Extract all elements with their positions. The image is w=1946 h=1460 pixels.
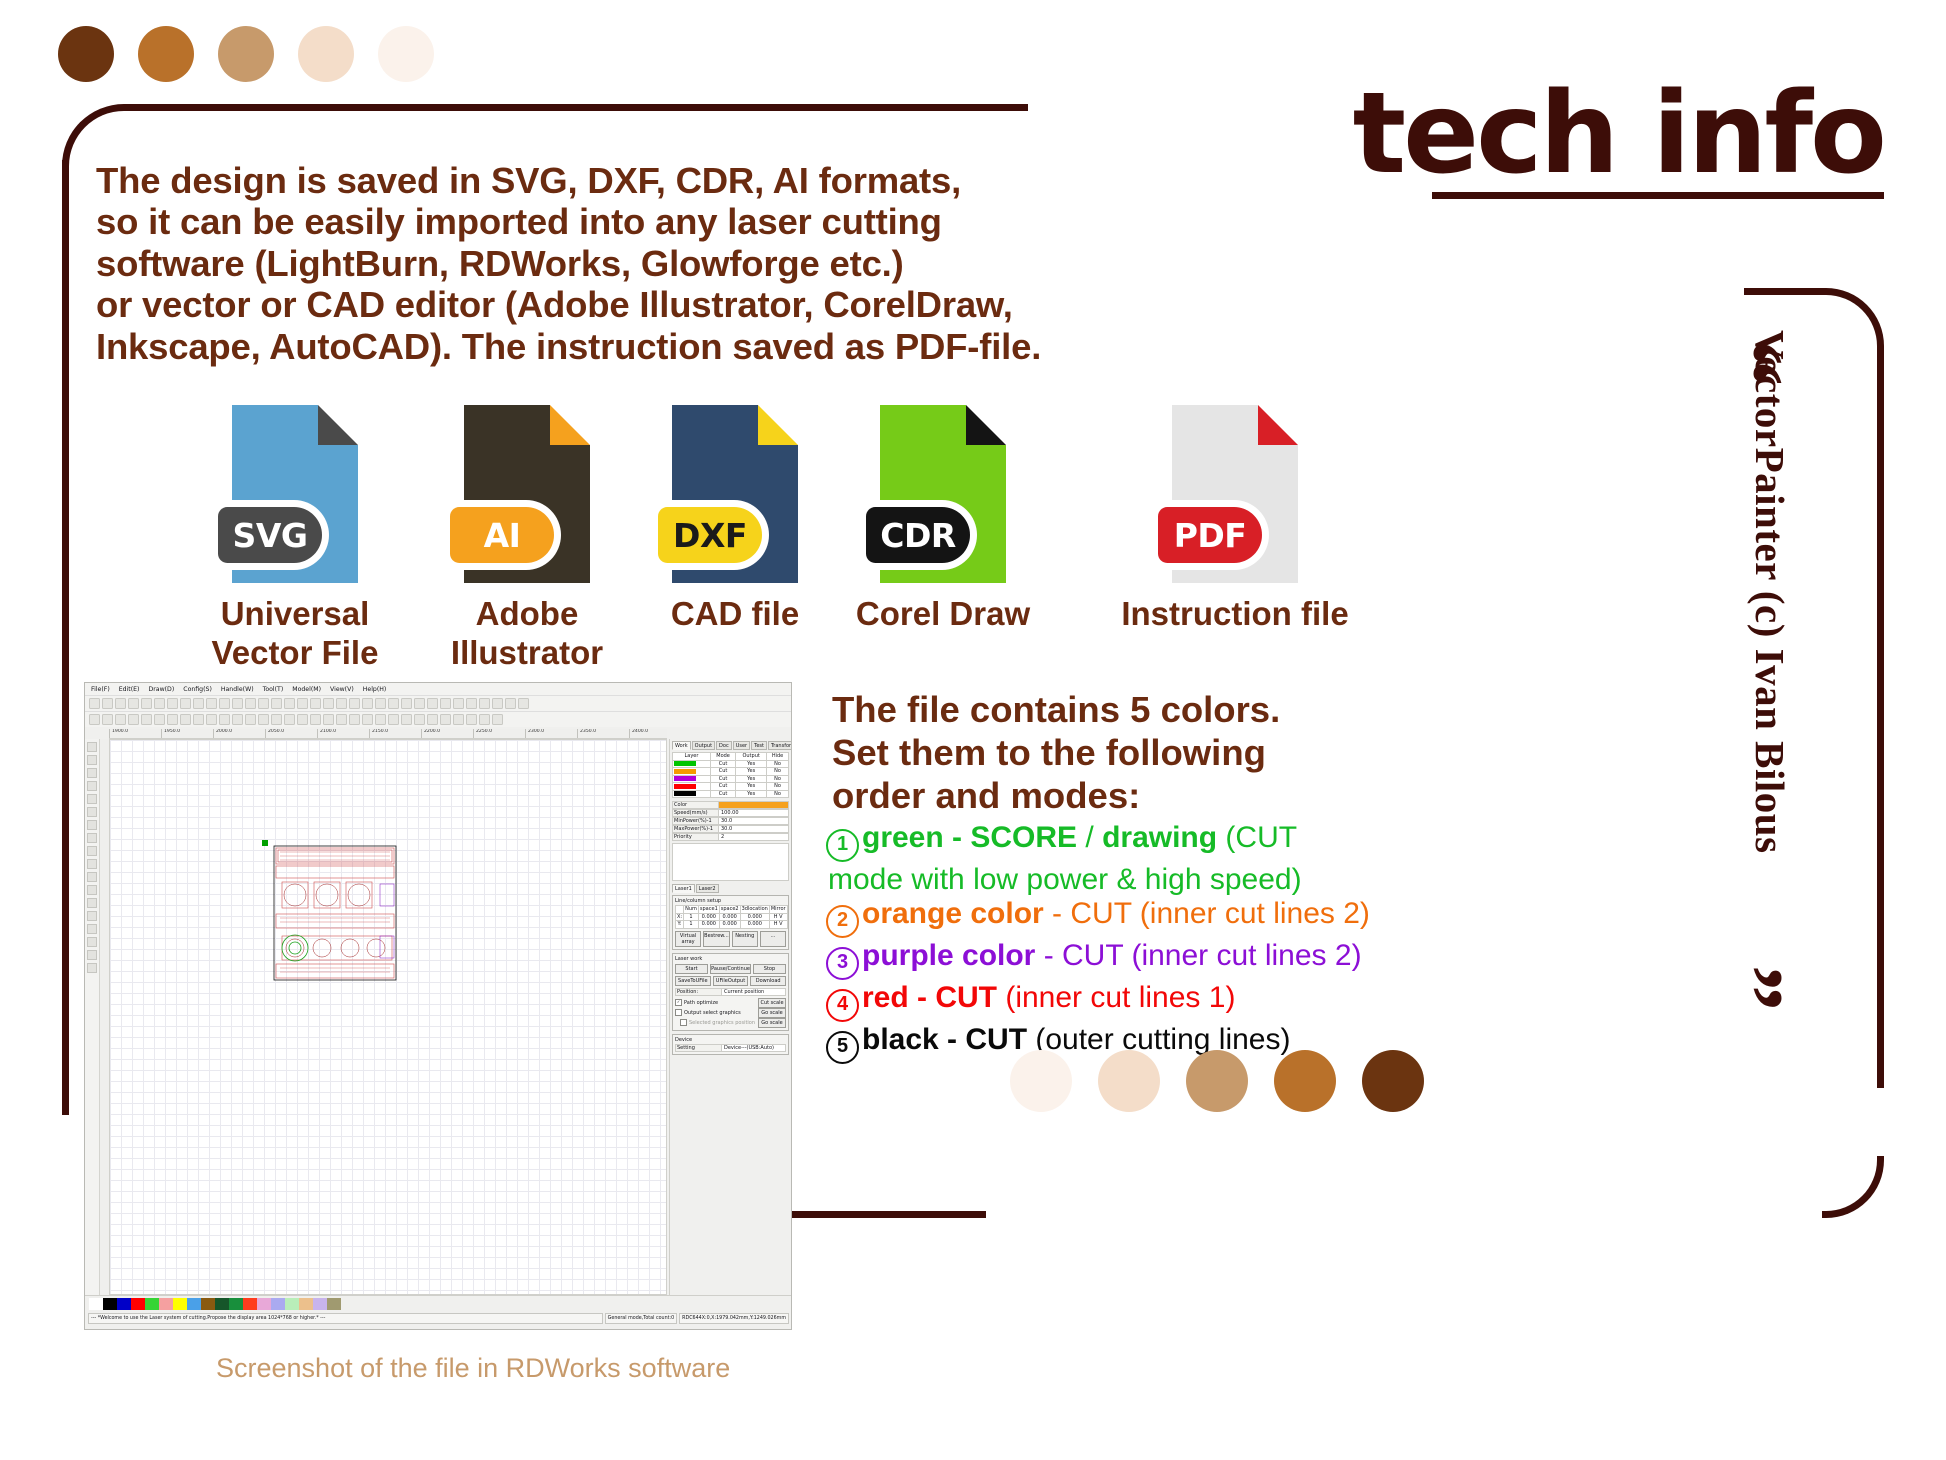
- file-icon-fold: [1258, 405, 1298, 445]
- laser-work-group-label: Laser work: [675, 956, 786, 962]
- intro-line-4: or vector or CAD editor (Adobe Illustrat…: [96, 284, 1096, 325]
- table-cell: No: [767, 768, 789, 776]
- toolbar-button-icon[interactable]: [219, 714, 230, 725]
- table-header: Mirror: [769, 906, 787, 914]
- rdworks-layer-table[interactable]: LayerModeOutputHideCutYesNoCutYesNoCutYe…: [672, 752, 789, 798]
- table-cell: No: [767, 760, 789, 768]
- tool-button-icon[interactable]: [87, 794, 97, 804]
- rdworks-right-panel[interactable]: WorkOutputDocUserTestTransform LayerMode…: [669, 739, 791, 1295]
- ruler-tick: 2350.0: [577, 729, 629, 738]
- design-artwork: [262, 840, 432, 990]
- toolbar-button-icon[interactable]: [310, 714, 321, 725]
- rdworks-setting-row[interactable]: Setting Device---(USB:Auto): [675, 1044, 786, 1052]
- property-value[interactable]: 30.0: [719, 826, 788, 832]
- toolbar-button-icon[interactable]: [440, 714, 451, 725]
- property-row[interactable]: Color: [672, 801, 789, 809]
- toolbar-button-icon[interactable]: [128, 698, 139, 709]
- toolbar-button-icon[interactable]: [479, 698, 490, 709]
- toolbar-button-icon[interactable]: [258, 714, 269, 725]
- laser-button[interactable]: Stop: [753, 964, 786, 974]
- file-icon-extension-badge: PDF: [1158, 507, 1262, 563]
- tool-button-icon[interactable]: [87, 872, 97, 882]
- toolbar-button-icon[interactable]: [427, 698, 438, 709]
- rdworks-laser-work-buttons[interactable]: StartPause/ContinueStopSaveToUFileUFileO…: [675, 964, 786, 986]
- ruler-tick: 1950.0: [161, 729, 213, 738]
- property-key: Priority: [673, 834, 719, 840]
- table-cell: Cut: [710, 783, 735, 791]
- rdworks-laser-tabs[interactable]: Laser1Laser2: [672, 884, 789, 893]
- toolbar-button-icon[interactable]: [219, 698, 230, 709]
- toolbar-button-icon[interactable]: [128, 714, 139, 725]
- rdworks-array-buttons[interactable]: Virtual arrayBestrew...Nesting...: [675, 931, 786, 947]
- table-row[interactable]: Y:10.0000.0000.000H V: [676, 921, 788, 929]
- status-message: --- *Welcome to use the Laser system of …: [88, 1313, 603, 1324]
- toolbar-button-icon[interactable]: [505, 698, 516, 709]
- rdworks-panel-tabs[interactable]: WorkOutputDocUserTestTransform: [672, 741, 789, 750]
- toolbar-button-icon[interactable]: [310, 698, 321, 709]
- file-icon-extension-badge: AI: [450, 507, 554, 563]
- table-cell: Cut: [710, 760, 735, 768]
- toolbar-button-icon[interactable]: [492, 714, 503, 725]
- quote-close-icon: ”: [1705, 965, 1797, 1011]
- rdworks-position-row[interactable]: Position: Current position: [675, 988, 786, 996]
- array-button[interactable]: ...: [760, 931, 786, 947]
- intro-paragraph: The design is saved in SVG, DXF, CDR, AI…: [96, 160, 1096, 367]
- panel-tab[interactable]: Transform: [768, 741, 792, 750]
- property-row[interactable]: MinPower(%)-130.0: [672, 817, 789, 825]
- toolbar-button-icon[interactable]: [414, 714, 425, 725]
- file-icon-label: AdobeIllustrator: [451, 595, 603, 672]
- checkbox-input[interactable]: [675, 1009, 682, 1016]
- palette-swatch[interactable]: [271, 1298, 285, 1310]
- table-row[interactable]: CutYesNo: [673, 775, 789, 783]
- toolbar-button-icon[interactable]: [323, 698, 334, 709]
- poster-stage: tech info The design is saved in SVG, DX…: [0, 0, 1946, 1460]
- file-icon-label: Corel Draw: [856, 595, 1030, 634]
- button-row: SaveToUFileUFileOutputDownload: [675, 976, 786, 986]
- color-mode-number: 2: [826, 905, 859, 938]
- toolbar-button-icon[interactable]: [466, 698, 477, 709]
- ruler-tick: 2100.0: [317, 729, 369, 738]
- panel-tab[interactable]: Test: [751, 741, 767, 750]
- tool-button-icon[interactable]: [87, 885, 97, 895]
- laser-button[interactable]: Pause/Continue: [710, 964, 751, 974]
- rdworks-laser-work-panel[interactable]: Laser work StartPause/ContinueStopSaveTo…: [672, 953, 789, 1031]
- table-cell: Yes: [736, 768, 767, 776]
- checkbox-label: Selected graphics position: [689, 1020, 755, 1026]
- panel-tab[interactable]: Work: [672, 741, 691, 750]
- tool-button-icon[interactable]: [87, 898, 97, 908]
- file-icon-fold: [318, 405, 358, 445]
- rdworks-toolbar-primary[interactable]: [85, 695, 791, 711]
- device-group-label: Device: [675, 1037, 786, 1043]
- table-cell: Yes: [736, 790, 767, 798]
- toolbar-button-icon[interactable]: [102, 714, 113, 725]
- file-icon-extension-badge: DXF: [658, 507, 762, 563]
- toolbar-button-icon[interactable]: [362, 698, 373, 709]
- palette-swatch[interactable]: [215, 1298, 229, 1310]
- palette-swatch[interactable]: [187, 1298, 201, 1310]
- table-cell[interactable]: 0.000: [740, 913, 769, 921]
- rdworks-array-table[interactable]: Numspace1space23dlocationMirrorX:10.0000…: [675, 905, 788, 929]
- setting-value[interactable]: Device---(USB:Auto): [722, 1045, 785, 1051]
- ruler-tick: 2050.0: [265, 729, 317, 738]
- toolbar-button-icon[interactable]: [193, 714, 204, 725]
- rdworks-option-checkboxes[interactable]: ✓Path optimizeCut scaleOutput select gra…: [675, 998, 786, 1028]
- scale-button[interactable]: Go scale: [758, 1008, 786, 1018]
- file-icon-extension-badge: SVG: [218, 507, 322, 563]
- toolbar-button-icon[interactable]: [206, 698, 217, 709]
- table-cell: Cut: [710, 775, 735, 783]
- palette-swatch[interactable]: [131, 1298, 145, 1310]
- color-mode-separator: /: [1077, 821, 1102, 854]
- toolbar-button-icon[interactable]: [232, 698, 243, 709]
- tool-button-icon[interactable]: [87, 833, 97, 843]
- vertical-signature: VectorPainter (c) Ivan Bilous: [1746, 330, 1794, 1030]
- file-icon-svg: SVGUniversalVector File: [232, 405, 358, 583]
- property-row[interactable]: MaxPower(%)-130.0: [672, 825, 789, 833]
- checkbox-row[interactable]: Output select graphicsGo scale: [675, 1008, 786, 1018]
- toolbar-button-icon[interactable]: [427, 714, 438, 725]
- color-mode-name: orange color: [862, 897, 1044, 930]
- position-value[interactable]: Current position: [722, 989, 785, 995]
- array-button[interactable]: Bestrew...: [703, 931, 730, 947]
- table-cell: Yes: [736, 775, 767, 783]
- tool-button-icon[interactable]: [87, 859, 97, 869]
- tool-button-icon[interactable]: [87, 768, 97, 778]
- toolbar-button-icon[interactable]: [323, 714, 334, 725]
- toolbar-button-icon[interactable]: [271, 714, 282, 725]
- menu-item[interactable]: Tool(T): [263, 686, 284, 693]
- menu-item[interactable]: Handle(W): [221, 686, 254, 693]
- layer-color-swatch[interactable]: [674, 784, 696, 789]
- checkbox-row[interactable]: ✓Path optimizeCut scale: [675, 998, 786, 1008]
- palette-swatch[interactable]: [145, 1298, 159, 1310]
- file-icon-fold: [758, 405, 798, 445]
- scale-button[interactable]: Go scale: [758, 1018, 786, 1028]
- rdworks-tool-palette[interactable]: [85, 739, 100, 1295]
- toolbar-button-icon[interactable]: [115, 714, 126, 725]
- panel-tab[interactable]: Laser2: [696, 884, 719, 893]
- toolbar-button-icon[interactable]: [180, 698, 191, 709]
- swatch-dark-brown: [58, 26, 114, 82]
- palette-swatch[interactable]: [89, 1298, 103, 1310]
- table-cell: Yes: [736, 760, 767, 768]
- toolbar-button-icon[interactable]: [141, 714, 152, 725]
- tool-button-icon[interactable]: [87, 963, 97, 973]
- tool-button-icon[interactable]: [87, 846, 97, 856]
- array-button[interactable]: Virtual array: [675, 931, 701, 947]
- table-cell[interactable]: Y:: [676, 921, 684, 929]
- property-value[interactable]: [719, 802, 788, 808]
- panel-tab[interactable]: User: [733, 741, 750, 750]
- tool-button-icon[interactable]: [87, 911, 97, 921]
- toolbar-button-icon[interactable]: [167, 714, 178, 725]
- position-label: Position:: [676, 989, 722, 995]
- toolbar-button-icon[interactable]: [401, 698, 412, 709]
- array-group-label: Line/column setup: [675, 898, 786, 904]
- property-key: MinPower(%)-1: [673, 818, 719, 824]
- panel-tab[interactable]: Doc: [716, 741, 732, 750]
- tool-button-icon[interactable]: [87, 950, 97, 960]
- intro-line-5: Inkscape, AutoCAD). The instruction save…: [96, 326, 1096, 367]
- palette-swatch[interactable]: [117, 1298, 131, 1310]
- toolbar-button-icon[interactable]: [297, 714, 308, 725]
- layer-color-swatch[interactable]: [674, 791, 696, 796]
- tool-button-icon[interactable]: [87, 820, 97, 830]
- toolbar-button-icon[interactable]: [271, 698, 282, 709]
- palette-swatch[interactable]: [159, 1298, 173, 1310]
- palette-dots-top: [58, 26, 434, 82]
- rdworks-toolbar-secondary[interactable]: [85, 711, 791, 727]
- swatch-brown: [1274, 1050, 1336, 1112]
- toolbar-button-icon[interactable]: [492, 698, 503, 709]
- color-mode-description: (inner cut lines 1): [997, 981, 1235, 1014]
- rdworks-status-area: --- *Welcome to use the Laser system of …: [85, 1295, 791, 1329]
- array-button[interactable]: Nesting: [732, 931, 758, 947]
- frame-corner-bottom-right: [1822, 1156, 1884, 1218]
- color-mode-name: green - SCORE: [862, 821, 1077, 854]
- toolbar-button-icon[interactable]: [141, 698, 152, 709]
- menu-item[interactable]: View(V): [330, 686, 354, 693]
- palette-swatch[interactable]: [327, 1298, 341, 1310]
- rdworks-canvas[interactable]: [109, 739, 667, 1295]
- palette-swatch[interactable]: [173, 1298, 187, 1310]
- toolbar-button-icon[interactable]: [440, 698, 451, 709]
- swatch-off-white: [1010, 1050, 1072, 1112]
- toolbar-button-icon[interactable]: [479, 714, 490, 725]
- table-cell[interactable]: 0.000: [698, 921, 719, 929]
- table-header: Output: [736, 753, 767, 761]
- ruler-tick: 2250.0: [473, 729, 525, 738]
- property-value[interactable]: 2: [719, 834, 788, 840]
- layer-color-swatch[interactable]: [674, 769, 696, 774]
- toolbar-button-icon[interactable]: [466, 714, 477, 725]
- layer-color-swatch[interactable]: [674, 776, 696, 781]
- frame-line-top: [128, 104, 1028, 111]
- toolbar-button-icon[interactable]: [89, 714, 100, 725]
- rdworks-screenshot: File(F)Edit(E)Draw(D)Config(S)Handle(W)T…: [84, 682, 792, 1330]
- toolbar-button-icon[interactable]: [401, 714, 412, 725]
- rdworks-color-palette[interactable]: [89, 1298, 789, 1310]
- property-value[interactable]: 100.00: [719, 810, 788, 816]
- frame-line-right: [1877, 348, 1884, 1088]
- ruler-tick: 2150.0: [369, 729, 421, 738]
- file-icon-ai: AIAdobeIllustrator: [464, 405, 590, 583]
- table-cell[interactable]: 1: [684, 921, 699, 929]
- laser-button[interactable]: UFileOutput: [713, 976, 749, 986]
- rdworks-array-panel[interactable]: Line/column setup Numspace1space23dlocat…: [672, 895, 789, 950]
- palette-swatch[interactable]: [313, 1298, 327, 1310]
- table-cell[interactable]: X:: [676, 913, 684, 921]
- checkbox-label: Output select graphics: [684, 1010, 741, 1016]
- table-header: Num: [684, 906, 699, 914]
- checkbox-input[interactable]: ✓: [675, 999, 682, 1006]
- table-cell[interactable]: 0.000: [698, 913, 719, 921]
- toolbar-button-icon[interactable]: [167, 698, 178, 709]
- tool-button-icon[interactable]: [87, 807, 97, 817]
- tool-button-icon[interactable]: [87, 755, 97, 765]
- ruler-tick: 2000.0: [213, 729, 265, 738]
- table-cell[interactable]: H V: [769, 921, 787, 929]
- laser-button[interactable]: Download: [750, 976, 786, 986]
- table-cell[interactable]: H V: [769, 913, 787, 921]
- toolbar-button-icon[interactable]: [206, 714, 217, 725]
- palette-swatch[interactable]: [299, 1298, 313, 1310]
- color-mode-number: 1: [826, 829, 859, 862]
- rdworks-layer-properties[interactable]: ColorSpeed(mm/s)100.00MinPower(%)-130.0M…: [672, 801, 789, 841]
- intro-line-2: so it can be easily imported into any la…: [96, 201, 1096, 242]
- color-mode-number: 4: [826, 989, 859, 1022]
- layer-color-swatch[interactable]: [674, 761, 696, 766]
- table-header: Hide: [767, 753, 789, 761]
- menu-item[interactable]: Draw(D): [148, 686, 174, 693]
- frame-line-left: [62, 160, 69, 1115]
- tool-button-icon[interactable]: [87, 924, 97, 934]
- property-value[interactable]: 30.0: [719, 818, 788, 824]
- toolbar-button-icon[interactable]: [388, 714, 399, 725]
- toolbar-button-icon[interactable]: [180, 714, 191, 725]
- toolbar-button-icon[interactable]: [453, 698, 464, 709]
- toolbar-button-icon[interactable]: [349, 714, 360, 725]
- menu-item[interactable]: Config(S): [183, 686, 212, 693]
- page-title: tech info: [1353, 78, 1884, 190]
- menu-item[interactable]: Model(M): [292, 686, 321, 693]
- toolbar-button-icon[interactable]: [388, 698, 399, 709]
- colors-heading-line-1: The file contains 5 colors.: [832, 688, 1472, 731]
- toolbar-button-icon[interactable]: [102, 698, 113, 709]
- property-row[interactable]: Priority2: [672, 833, 789, 841]
- toolbar-button-icon[interactable]: [297, 698, 308, 709]
- toolbar-button-icon[interactable]: [362, 714, 373, 725]
- toolbar-button-icon[interactable]: [349, 698, 360, 709]
- palette-swatch[interactable]: [103, 1298, 117, 1310]
- laser-button[interactable]: SaveToUFile: [675, 976, 711, 986]
- tool-button-icon[interactable]: [87, 781, 97, 791]
- color-mode-number: 5: [826, 1031, 859, 1064]
- screenshot-caption: Screenshot of the file in RDWorks softwa…: [216, 1353, 730, 1384]
- file-icon-dxf: DXFCAD file: [672, 405, 798, 583]
- toolbar-button-icon[interactable]: [453, 714, 464, 725]
- toolbar-button-icon[interactable]: [284, 714, 295, 725]
- rdworks-menubar[interactable]: File(F)Edit(E)Draw(D)Config(S)Handle(W)T…: [85, 683, 791, 695]
- toolbar-button-icon[interactable]: [336, 698, 347, 709]
- toolbar-button-icon[interactable]: [245, 714, 256, 725]
- table-cell[interactable]: 1: [684, 913, 699, 921]
- table-row[interactable]: CutYesNo: [673, 790, 789, 798]
- colors-heading-line-3: order and modes:: [832, 774, 1472, 817]
- property-key: Speed(mm/s): [673, 810, 719, 816]
- table-row[interactable]: CutYesNo: [673, 760, 789, 768]
- file-format-icon-row: SVGUniversalVector FileAIAdobeIllustrato…: [232, 405, 1592, 665]
- menu-item[interactable]: Help(H): [363, 686, 387, 693]
- toolbar-button-icon[interactable]: [336, 714, 347, 725]
- frame-corner-top-right: [1822, 288, 1884, 350]
- file-icon-fold: [966, 405, 1006, 445]
- rdworks-status-bar: --- *Welcome to use the Laser system of …: [88, 1313, 789, 1324]
- color-mode-list: 1green - SCORE / drawing (CUTmode with l…: [826, 822, 1506, 1066]
- toolbar-button-icon[interactable]: [232, 714, 243, 725]
- toolbar-button-icon[interactable]: [154, 698, 165, 709]
- swatch-cream: [1098, 1050, 1160, 1112]
- table-cell: Yes: [736, 783, 767, 791]
- property-row[interactable]: Speed(mm/s)100.00: [672, 809, 789, 817]
- toolbar-button-icon[interactable]: [414, 698, 425, 709]
- ruler-tick: 2300.0: [525, 729, 577, 738]
- menu-item[interactable]: File(F): [91, 686, 110, 693]
- table-header: space2: [719, 906, 740, 914]
- file-icon-cdr: CDRCorel Draw: [880, 405, 1006, 583]
- toolbar-button-icon[interactable]: [375, 698, 386, 709]
- table-row[interactable]: X:10.0000.0000.000H V: [676, 913, 788, 921]
- panel-tab[interactable]: Laser1: [672, 884, 695, 893]
- toolbar-button-icon[interactable]: [115, 698, 126, 709]
- rdworks-empty-list: [672, 843, 789, 881]
- property-key: MaxPower(%)-1: [673, 826, 719, 832]
- palette-swatch[interactable]: [229, 1298, 243, 1310]
- checkbox-input[interactable]: [680, 1019, 687, 1026]
- color-mode-item: 3purple color - CUT (inner cut lines 2): [826, 940, 1506, 980]
- color-mode-name-alt: drawing: [1102, 821, 1217, 854]
- toolbar-button-icon[interactable]: [245, 698, 256, 709]
- table-cell[interactable]: 0.000: [740, 921, 769, 929]
- table-cell: No: [767, 790, 789, 798]
- tool-button-icon[interactable]: [87, 937, 97, 947]
- palette-swatch[interactable]: [285, 1298, 299, 1310]
- swatch-cream: [298, 26, 354, 82]
- toolbar-button-icon[interactable]: [375, 714, 386, 725]
- toolbar-button-icon[interactable]: [284, 698, 295, 709]
- toolbar-button-icon[interactable]: [518, 698, 529, 709]
- menu-item[interactable]: Edit(E): [119, 686, 140, 693]
- property-key: Color: [673, 802, 719, 808]
- scale-button[interactable]: Cut scale: [758, 998, 786, 1008]
- ruler-tick: 2400.0: [629, 729, 667, 738]
- tool-button-icon[interactable]: [87, 742, 97, 752]
- title-underline: [1432, 192, 1884, 199]
- table-cell[interactable]: 0.000: [719, 913, 740, 921]
- rdworks-horizontal-ruler: 1900.01950.02000.02050.02100.02150.02200…: [109, 729, 667, 739]
- colors-heading-line-2: Set them to the following: [832, 731, 1472, 774]
- swatch-tan: [1186, 1050, 1248, 1112]
- intro-line-1: The design is saved in SVG, DXF, CDR, AI…: [96, 160, 1096, 201]
- color-mode-item: 1green - SCORE / drawing (CUT: [826, 822, 1506, 862]
- swatch-tan: [218, 26, 274, 82]
- panel-tab[interactable]: Output: [692, 741, 715, 750]
- frame-line-right-top: [1744, 288, 1824, 295]
- file-icon-label: UniversalVector File: [212, 595, 379, 672]
- palette-swatch[interactable]: [257, 1298, 271, 1310]
- colors-heading: The file contains 5 colors. Set them to …: [832, 688, 1472, 817]
- palette-swatch[interactable]: [243, 1298, 257, 1310]
- rdworks-device-panel[interactable]: Device Setting Device---(USB:Auto): [672, 1034, 789, 1055]
- table-header: Mode: [710, 753, 735, 761]
- toolbar-button-icon[interactable]: [89, 698, 100, 709]
- toolbar-button-icon[interactable]: [154, 714, 165, 725]
- file-icon-pdf: PDFInstruction file: [1172, 405, 1298, 583]
- palette-swatch[interactable]: [201, 1298, 215, 1310]
- ruler-tick: 1900.0: [109, 729, 161, 738]
- table-header: space1: [698, 906, 719, 914]
- color-mode-description: (CUT: [1217, 821, 1297, 854]
- checkbox-row[interactable]: Selected graphics positionGo scale: [675, 1018, 786, 1028]
- table-row[interactable]: CutYesNo: [673, 768, 789, 776]
- laser-button[interactable]: Start: [675, 964, 708, 974]
- toolbar-button-icon[interactable]: [258, 698, 269, 709]
- toolbar-button-icon[interactable]: [193, 698, 204, 709]
- table-cell[interactable]: 0.000: [719, 921, 740, 929]
- table-row[interactable]: CutYesNo: [673, 783, 789, 791]
